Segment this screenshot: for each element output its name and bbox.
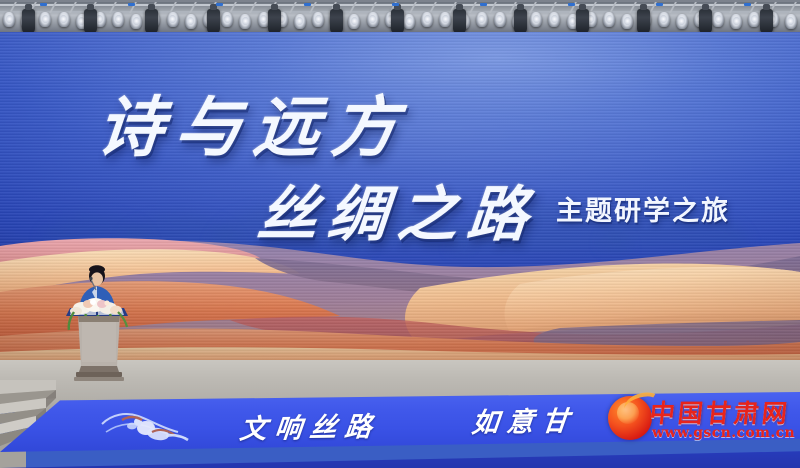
stage-light-large [760,9,773,32]
stage-light-small [712,12,724,27]
stage-light-small [494,12,506,27]
stage-light-small [112,12,124,27]
truss-cable-tag [480,3,487,6]
banner-text-right: 如意甘 [470,399,579,440]
stage-light-small [3,12,15,27]
truss-cable-tag [128,3,135,6]
truss-cable-tag [304,3,311,6]
stage-light-small [239,14,251,29]
stage-light-small [785,14,797,29]
stage-light-large [637,9,650,32]
stage-light-small [730,14,742,29]
stage-light-large [84,9,97,32]
banner-text-left: 文响丝路 [238,405,382,447]
truss-cable-tag [744,3,751,6]
stage-light-large [514,9,527,32]
stage-light-small [403,14,415,29]
stage-light-small [130,14,142,29]
stage-light-small [348,14,360,29]
truss-cable-tag [392,3,399,6]
stage-light-small [476,12,488,27]
stage-light-small [39,12,51,27]
stage-light-small [312,12,324,27]
stage-light-small [294,14,306,29]
stage-light-small [439,12,451,27]
watermark-url: www.gscn.com.cn [652,425,795,441]
stage-light-small [421,12,433,27]
screen-title-line-2: 丝绸之路 [254,166,542,253]
flying-apsara-motif [96,406,192,450]
speaker-podium-svg [52,262,160,384]
stage-light-large [22,9,35,32]
stage-light-large [330,9,343,32]
stage-light-small [58,12,70,27]
stage-light-large [145,9,158,32]
screen-title-line-1: 诗与远方 [94,74,414,170]
stage-light-small [676,14,688,29]
podium-trim [78,316,120,322]
stage-light-large [268,9,281,32]
stage-light-small [548,12,560,27]
stage-light-small [530,12,542,27]
truss-cable-tag [656,3,663,6]
stage-light-large [391,9,404,32]
stage-light-small [603,12,615,27]
stage-light-small [221,12,233,27]
site-watermark: 中国甘肃网 www.gscn.com.cn [608,392,800,454]
stage-light-small [621,14,633,29]
speaker-at-podium [52,262,160,384]
stage-light-large [453,9,466,32]
stage-light-small [658,12,670,27]
screen-subtitle: 主题研学之旅 [556,189,730,228]
stage-light-large [699,9,712,32]
stage-event-photo: 诗与远方 丝绸之路 主题研学之旅 [0,0,800,468]
truss-cable-tag [216,3,223,6]
stage-light-small [167,12,179,27]
apsara-svg [96,406,192,450]
stage-light-small [748,12,760,27]
stage-light-small [185,14,197,29]
stage-light-small [367,12,379,27]
truss-cable-tag [40,3,47,6]
truss-cable-tag [568,3,575,6]
podium-base [79,366,119,372]
overhead-lighting-truss [0,0,800,32]
stage-light-large [576,9,589,32]
stage-light-large [207,9,220,32]
